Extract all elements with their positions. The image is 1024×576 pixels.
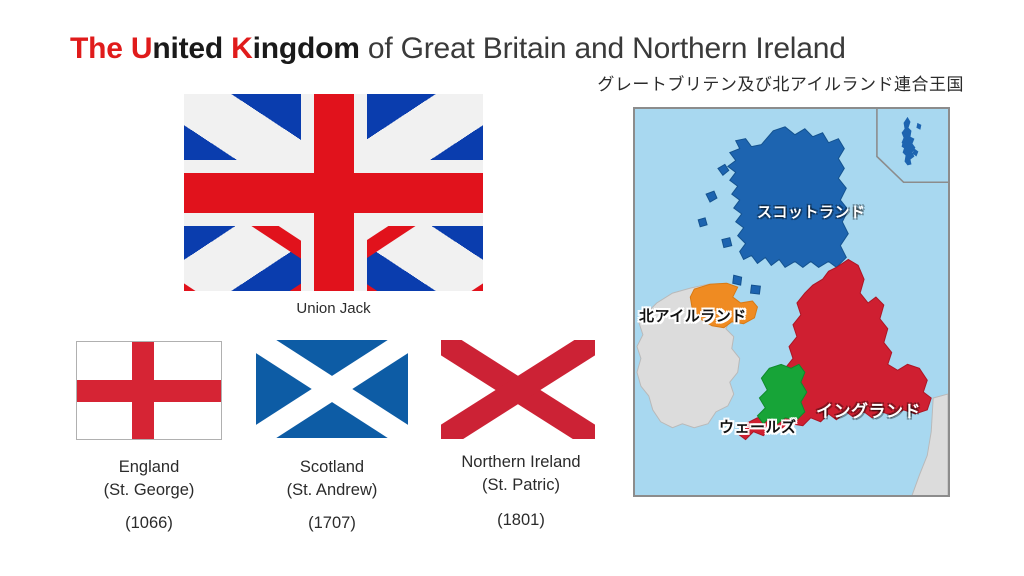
- caption-england-name: England: [60, 456, 238, 479]
- region-wales: [757, 364, 806, 423]
- england-cross-vertical: [132, 342, 154, 439]
- year-northern-ireland: (1801): [432, 511, 610, 530]
- year-scotland: (1707): [243, 514, 421, 533]
- title-segment-rest: of Great Britain and Northern Ireland: [368, 32, 846, 65]
- caption-england: England (St. George): [60, 456, 238, 503]
- title-segment-nited: nited: [152, 32, 231, 65]
- title-segment-ingdom: ingdom: [253, 32, 368, 65]
- subtitle-japanese: グレートブリテン及び北アイルランド連合王国: [597, 70, 964, 95]
- page-title: The United Kingdom of Great Britain and …: [70, 30, 846, 68]
- year-england: (1066): [60, 514, 238, 533]
- flag-england: [76, 341, 222, 440]
- caption-scotland: Scotland (St. Andrew): [243, 456, 421, 503]
- union-jack-caption: Union Jack: [184, 300, 483, 317]
- uk-map: スコットランド 北アイルランド ウェールズ イングランド: [633, 107, 950, 497]
- uk-map-svg: [635, 109, 948, 495]
- flag-northern-ireland: [441, 340, 595, 439]
- title-segment-the: The: [70, 32, 131, 65]
- union-jack-flag: [184, 94, 483, 291]
- union-jack-red-cross-vertical: [314, 94, 354, 291]
- caption-northern-ireland-saint: (St. Patric): [432, 474, 610, 497]
- title-segment-u: U: [131, 32, 152, 65]
- flag-scotland: [256, 340, 408, 438]
- caption-england-saint: (St. George): [60, 479, 238, 502]
- region-scotland: [698, 127, 848, 294]
- caption-northern-ireland: Northern Ireland (St. Patric): [432, 451, 610, 498]
- title-segment-k: K: [231, 32, 252, 65]
- caption-scotland-saint: (St. Andrew): [243, 479, 421, 502]
- caption-northern-ireland-name: Northern Ireland: [432, 451, 610, 474]
- caption-scotland-name: Scotland: [243, 456, 421, 479]
